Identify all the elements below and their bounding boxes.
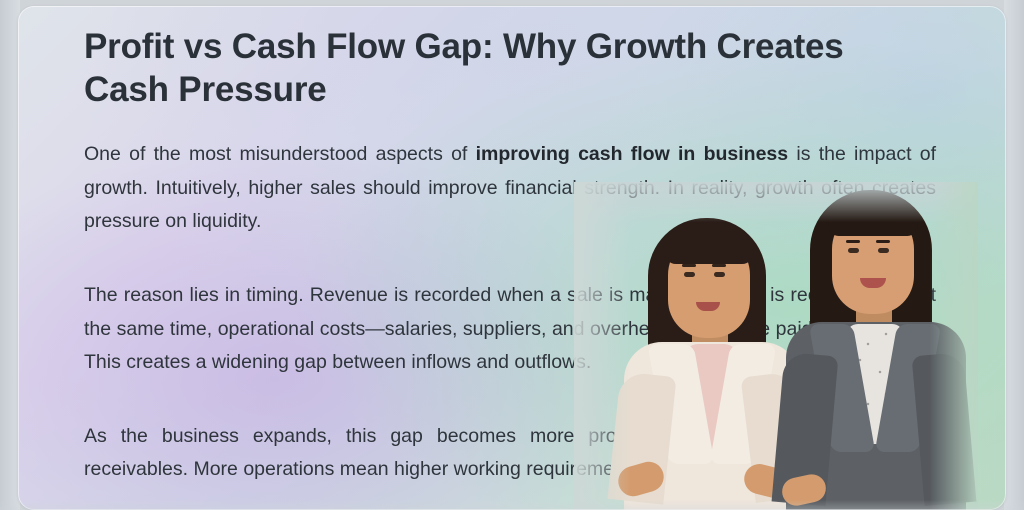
- document-page: Profit vs Cash Flow Gap: Why Growth Crea…: [0, 0, 1024, 510]
- paragraph-1: One of the most misunderstood aspects of…: [84, 138, 936, 239]
- paragraph-2: The reason lies in timing. Revenue is re…: [84, 279, 936, 380]
- article-content: Profit vs Cash Flow Gap: Why Growth Crea…: [84, 26, 940, 487]
- article-card: Profit vs Cash Flow Gap: Why Growth Crea…: [18, 6, 1006, 510]
- page-title: Profit vs Cash Flow Gap: Why Growth Crea…: [84, 26, 884, 111]
- page-edge-left: [0, 0, 20, 510]
- page-edge-right: [1004, 0, 1024, 510]
- paragraph-3: As the business expands, this gap become…: [84, 420, 936, 487]
